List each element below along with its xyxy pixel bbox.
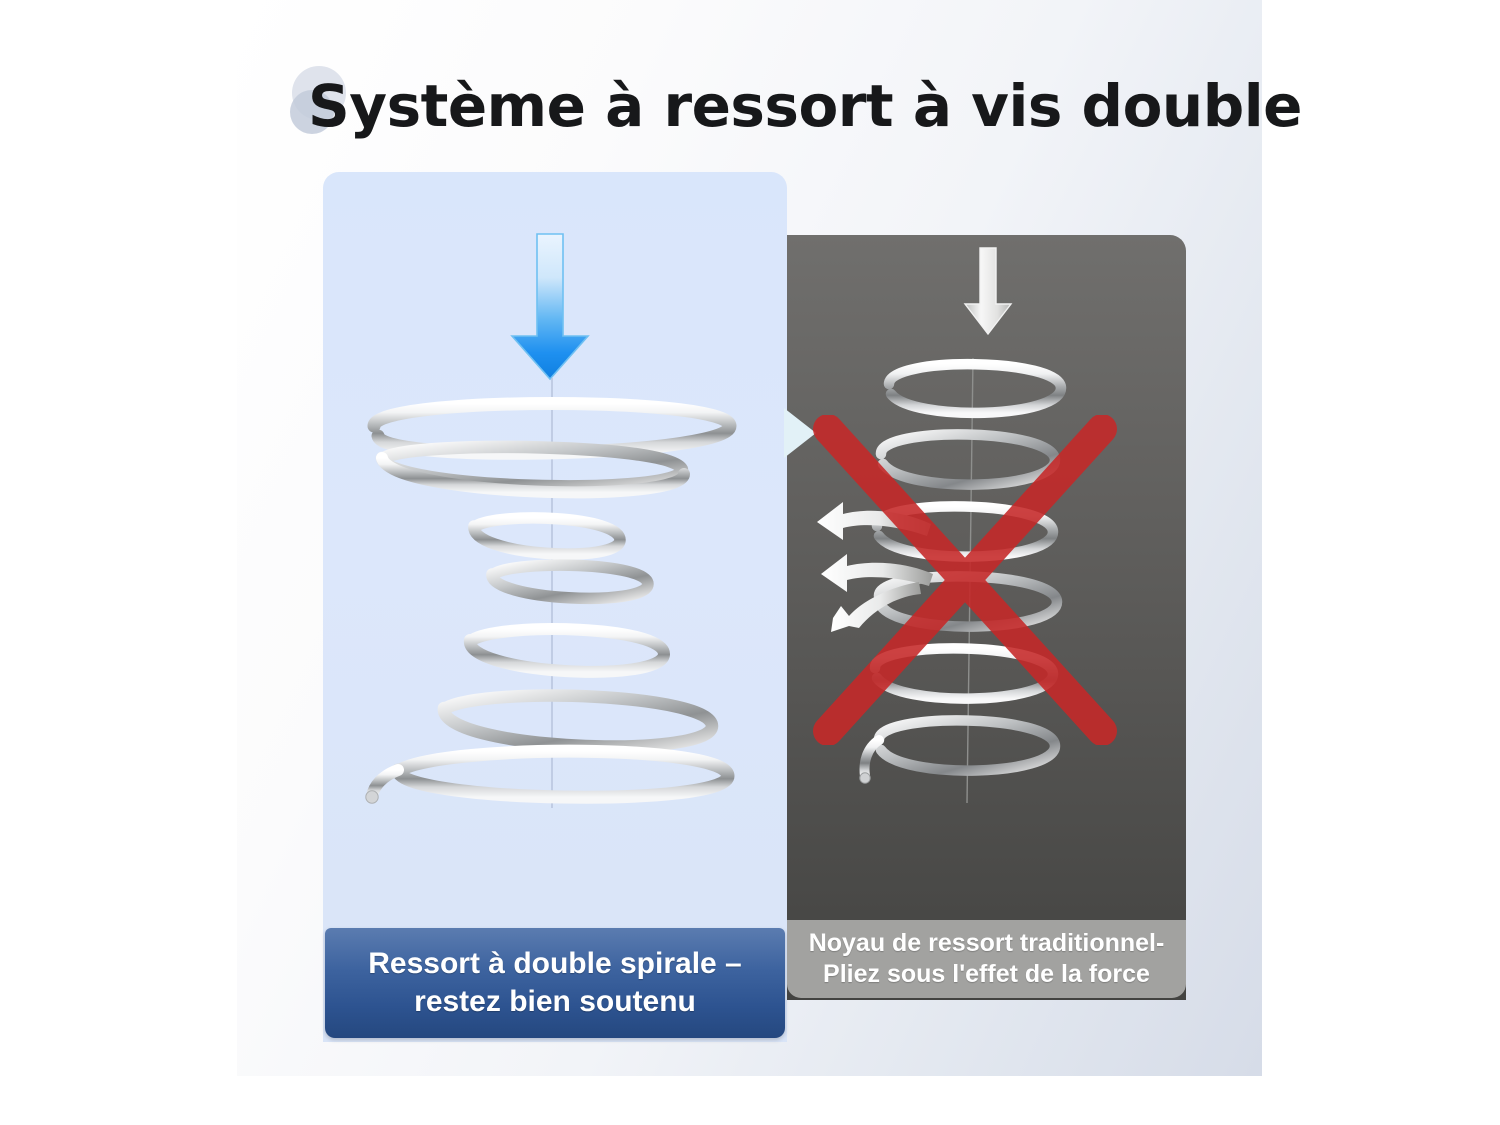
infographic-canvas: Système à ressort à vis double bbox=[0, 0, 1500, 1125]
page-title-block: Système à ressort à vis double bbox=[290, 64, 1220, 150]
caption-double-spiral-spring-text: Ressort à double spirale – restez bien s… bbox=[368, 945, 741, 1022]
page-title: Système à ressort à vis double bbox=[308, 64, 1302, 148]
caption-double-spiral-spring: Ressort à double spirale – restez bien s… bbox=[325, 928, 785, 1038]
down-arrow-white-icon bbox=[962, 246, 1014, 336]
red-x-cross-icon bbox=[810, 415, 1120, 745]
down-arrow-blue-icon bbox=[508, 232, 592, 382]
caption-traditional-spring-text: Noyau de ressort traditionnel- Pliez sou… bbox=[809, 928, 1165, 990]
hourglass-coil-spring-icon bbox=[352, 378, 752, 808]
caption-traditional-spring: Noyau de ressort traditionnel- Pliez sou… bbox=[787, 920, 1186, 998]
